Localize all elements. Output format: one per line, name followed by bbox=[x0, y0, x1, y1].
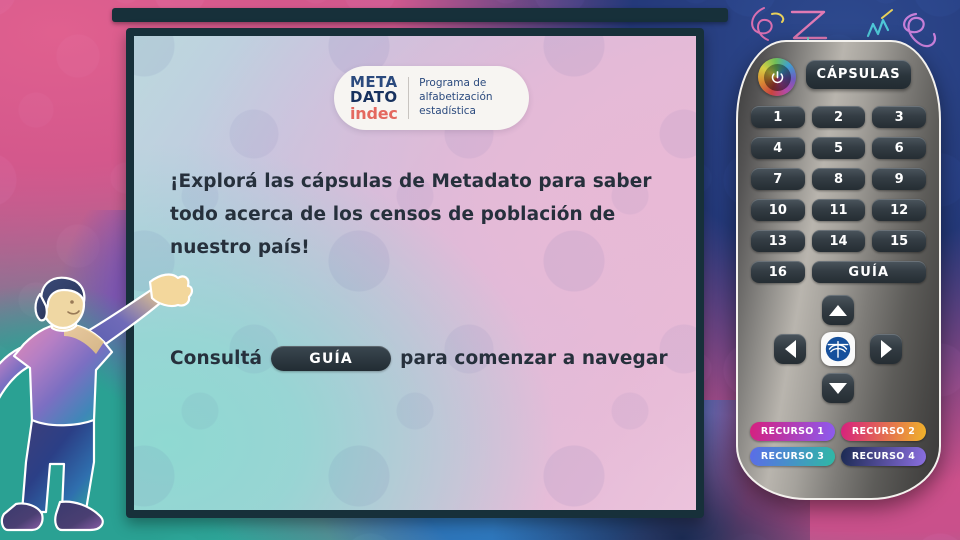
logo-tagline-line2: alfabetización bbox=[419, 91, 492, 105]
remote-guia-button[interactable]: GUÍA bbox=[812, 261, 926, 283]
recurso-3-button[interactable]: RECURSO 3 bbox=[750, 447, 835, 466]
remote-key-7[interactable]: 7 bbox=[751, 168, 805, 190]
recurso-4-button[interactable]: RECURSO 4 bbox=[841, 447, 926, 466]
recurso-2-button[interactable]: RECURSO 2 bbox=[841, 422, 926, 441]
remote-key-16[interactable]: 16 bbox=[751, 261, 805, 283]
remote-dpad bbox=[774, 295, 902, 405]
guia-pill-inline[interactable]: GUÍA bbox=[271, 346, 391, 371]
remote-key-14[interactable]: 14 bbox=[812, 230, 866, 252]
projector-screen-surface: META DATO indec Programa de alfabetizaci… bbox=[134, 36, 696, 510]
remote-key-6[interactable]: 6 bbox=[872, 137, 926, 159]
dpad-center-home-button[interactable] bbox=[821, 332, 855, 366]
logo-tagline: Programa de alfabetización estadística bbox=[409, 77, 504, 119]
remote-key-1[interactable]: 1 bbox=[751, 106, 805, 128]
remote-numpad: 1 2 3 4 5 6 7 8 9 10 11 12 13 14 15 16 G… bbox=[751, 106, 926, 283]
remote-key-11[interactable]: 11 bbox=[812, 199, 866, 221]
remote-key-3[interactable]: 3 bbox=[872, 106, 926, 128]
remote-key-15[interactable]: 15 bbox=[872, 230, 926, 252]
left-arrow-icon bbox=[785, 340, 796, 358]
dpad-right-button[interactable] bbox=[870, 334, 902, 364]
power-button-core bbox=[764, 64, 791, 91]
slide-headline: ¡Explorá las cápsulas de Metadato para s… bbox=[170, 166, 680, 265]
slide-stage: META DATO indec Programa de alfabetizaci… bbox=[0, 0, 960, 540]
logo-dato-text: DATO bbox=[350, 90, 398, 105]
remote-key-5[interactable]: 5 bbox=[812, 137, 866, 159]
dpad-up-button[interactable] bbox=[822, 295, 854, 325]
slide-subline: Consultá GUÍA para comenzar a navegar bbox=[170, 346, 690, 371]
character-illustration bbox=[0, 272, 205, 540]
remote-key-9[interactable]: 9 bbox=[872, 168, 926, 190]
down-arrow-icon bbox=[829, 383, 847, 394]
projector-screen-topbar bbox=[112, 8, 728, 22]
remote-key-12[interactable]: 12 bbox=[872, 199, 926, 221]
dpad-left-button[interactable] bbox=[774, 334, 806, 364]
remote-key-2[interactable]: 2 bbox=[812, 106, 866, 128]
remote-key-4[interactable]: 4 bbox=[751, 137, 805, 159]
recurso-1-button[interactable]: RECURSO 1 bbox=[750, 422, 835, 441]
right-arrow-icon bbox=[881, 340, 892, 358]
projector-screen-frame: META DATO indec Programa de alfabetizaci… bbox=[126, 28, 704, 518]
power-icon bbox=[770, 70, 785, 85]
slide-content: META DATO indec Programa de alfabetizaci… bbox=[134, 36, 696, 510]
subline-suffix: para comenzar a navegar bbox=[400, 348, 668, 369]
remote-key-8[interactable]: 8 bbox=[812, 168, 866, 190]
logo-indec-text: indec bbox=[350, 106, 398, 122]
remote-resource-buttons: RECURSO 1 RECURSO 2 RECURSO 3 RECURSO 4 bbox=[750, 422, 926, 466]
capsulas-button[interactable]: CÁPSULAS bbox=[806, 60, 911, 89]
dpad-down-button[interactable] bbox=[822, 373, 854, 403]
logo-wordmark: META DATO indec bbox=[334, 75, 408, 122]
logo-tagline-line1: Programa de bbox=[419, 77, 492, 91]
remote-buttons-area: CÁPSULAS 1 2 3 4 5 6 7 8 9 10 11 12 13 1… bbox=[736, 40, 941, 500]
power-button[interactable] bbox=[758, 58, 796, 96]
metadato-indec-logo: META DATO indec Programa de alfabetizaci… bbox=[334, 66, 529, 130]
remote-key-13[interactable]: 13 bbox=[751, 230, 805, 252]
logo-tagline-line3: estadística bbox=[419, 105, 492, 119]
indec-logo-icon bbox=[825, 336, 851, 362]
remote-control: CÁPSULAS 1 2 3 4 5 6 7 8 9 10 11 12 13 1… bbox=[736, 40, 941, 500]
remote-key-10[interactable]: 10 bbox=[751, 199, 805, 221]
up-arrow-icon bbox=[829, 305, 847, 316]
